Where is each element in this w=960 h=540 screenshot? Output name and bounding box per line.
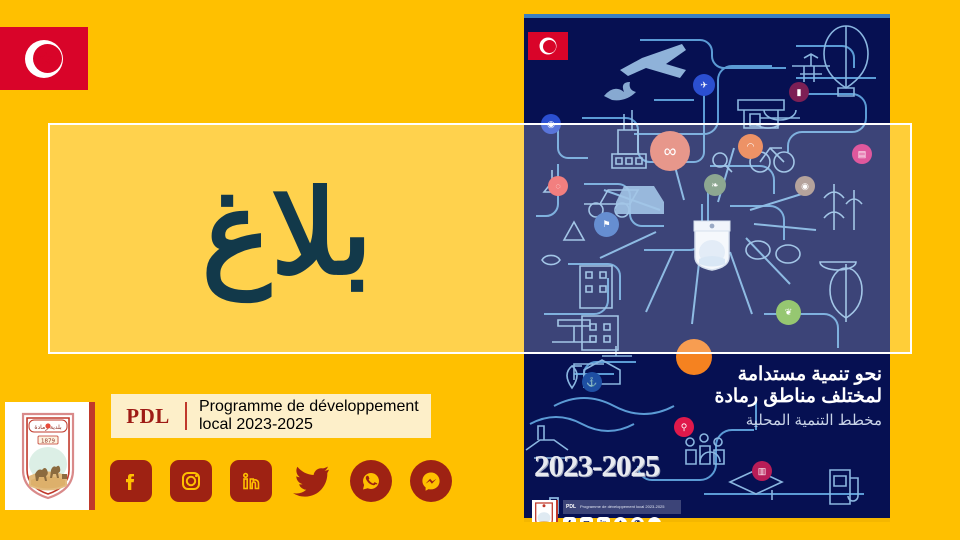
ramada-shield-icon (532, 500, 556, 522)
poster-tunisia-flag: ★ (528, 32, 568, 60)
poster-footer-social-row: f ◻ in t ✆ ⌁ (563, 517, 681, 522)
poster-years: 2023-2025 (534, 448, 659, 484)
pdl-banner: PDL Programme de développement local 202… (111, 394, 431, 438)
plane-badge: ✈ (693, 74, 715, 96)
instagram-icon[interactable] (170, 460, 212, 502)
poster-title-line2: لمختلف مناطق رمادة (652, 386, 882, 408)
pdl-plan-poster[interactable]: ★ ✈ ▮ ◠ ▤ ◉ ◌ ∞ ❧ ◉ ⚑ ❦ ⚓ ⚲ ▥ نحو تنمية … (524, 14, 890, 522)
leaf-badge: ❧ (704, 174, 726, 196)
poster-center-shield-icon (692, 219, 732, 271)
shield-badge: ⚑ (594, 212, 619, 237)
slide-canvas: ★ (0, 0, 960, 540)
pdl-description: Programme de développement local 2023-20… (199, 398, 419, 434)
page-title: بلاغ (202, 175, 373, 291)
facebook-icon[interactable] (110, 460, 152, 502)
pdl-description-line2: local 2023-2025 (199, 416, 419, 434)
linkedin-icon: in (597, 517, 610, 522)
poster-footer-pdl-box: PDL Programme de développement local 202… (563, 500, 681, 514)
pdl-abbrev: PDL (111, 404, 185, 429)
poster-footer-text-block: PDL Programme de développement local 202… (563, 500, 681, 522)
messenger-icon: ⌁ (648, 517, 661, 522)
headline-panel: بلاغ (50, 125, 524, 352)
poster-footer: PDL Programme de développement local 202… (532, 500, 681, 522)
whatsapp-icon[interactable] (350, 460, 392, 502)
ramada-municipality-logo: بلدية رمادة 1879 (5, 402, 95, 510)
document-badge: ▤ (852, 144, 872, 164)
water-drop-badge: ◌ (548, 176, 568, 196)
poster-title-line1: نحو تنمية مستدامة (652, 364, 882, 386)
poster-subtitle: مخطط التنمية المحلية (652, 411, 882, 429)
book-badge: ▥ (752, 461, 772, 481)
facebook-icon: f (563, 517, 576, 522)
pdl-divider (185, 402, 187, 430)
logo-red-bar (556, 500, 558, 522)
tunisia-flag: ★ (0, 27, 88, 90)
flag-star-icon: ★ (545, 42, 552, 50)
poster-footer-pdl-abbrev: PDL (566, 504, 576, 510)
infinity-badge: ∞ (650, 131, 690, 171)
whatsapp-icon: ✆ (631, 517, 644, 522)
anchor-badge: ⚓ (582, 372, 602, 392)
poster-footer-pdl-desc: Programme de développement local 2023-20… (580, 505, 665, 509)
logo-red-bar (89, 402, 95, 510)
eye-badge: ◉ (795, 176, 815, 196)
chart-badge: ▮ (789, 82, 809, 102)
svg-text:1879: 1879 (41, 439, 55, 445)
linkedin-icon[interactable] (230, 460, 272, 502)
megaphone-badge: ◉ (541, 114, 561, 134)
pdl-description-line1: Programme de développement (199, 398, 419, 416)
ramada-shield-icon: بلدية رمادة 1879 (15, 408, 81, 502)
poster-footer-logo (532, 500, 558, 522)
tree-badge: ❦ (776, 300, 801, 325)
twitter-icon: t (614, 517, 627, 522)
messenger-icon[interactable] (410, 460, 452, 502)
social-links-row (110, 460, 452, 502)
bowl-badge: ◠ (738, 134, 763, 159)
flag-star-icon: ★ (38, 50, 53, 67)
twitter-icon[interactable] (290, 460, 332, 502)
instagram-icon: ◻ (580, 517, 593, 522)
poster-title-block: نحو تنمية مستدامة لمختلف مناطق رمادة مخط… (652, 364, 882, 429)
